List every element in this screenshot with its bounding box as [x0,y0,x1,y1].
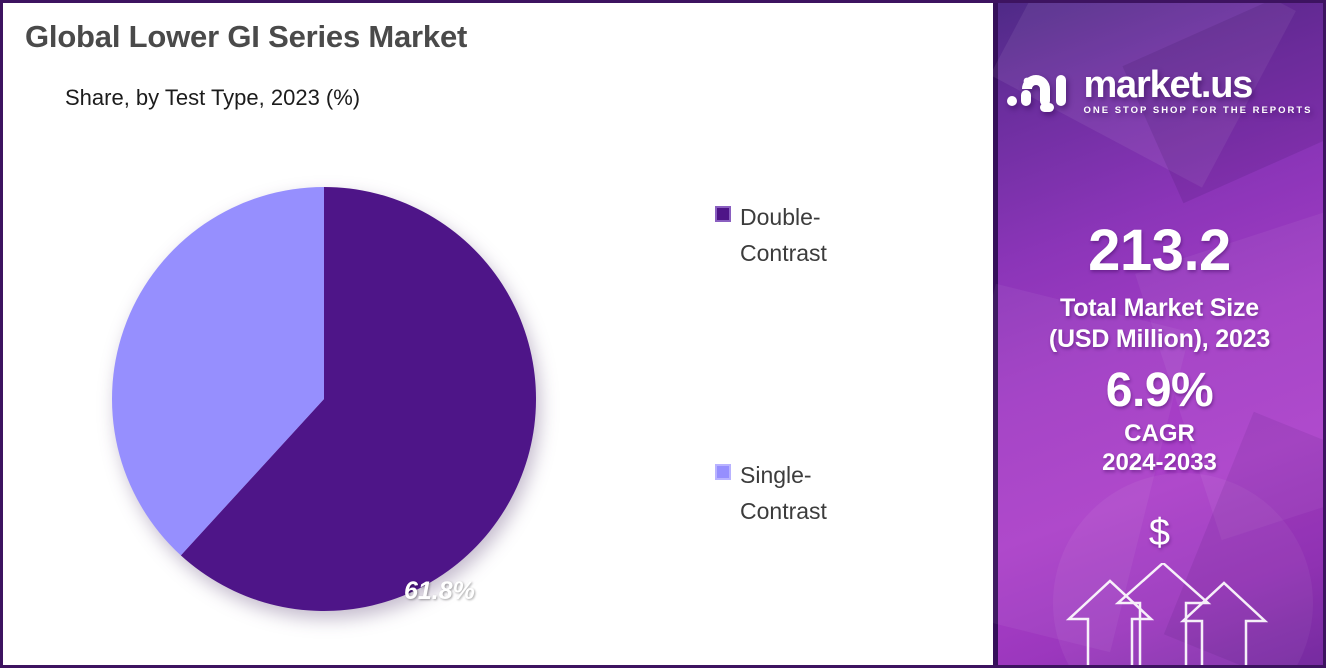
pie-slice-data-label: 61.8% [404,577,475,606]
legend-swatch-icon [715,464,731,480]
chart-legend: Double-Contrast Single-Contrast [715,199,965,668]
legend-item-label-line1: Double- [740,204,821,230]
brand-stats: 213.2 Total Market Size (USD Million), 2… [993,219,1326,477]
legend-item-double-contrast[interactable]: Double-Contrast [715,199,965,271]
growth-arrows-icon [993,563,1326,665]
chart-pane: Global Lower GI Series Market Share, by … [3,3,993,665]
total-market-size-value: 213.2 [993,219,1326,283]
page-subtitle: Share, by Test Type, 2023 (%) [65,85,360,111]
market-us-logo-icon [1006,65,1072,118]
cagr-period: 2024-2033 [993,448,1326,477]
total-market-size-label-line2: (USD Million), 2023 [993,324,1326,355]
total-market-size-label-line1: Total Market Size [993,293,1326,324]
pie-chart: 61.8% [112,187,536,611]
brand-pane: market.us ONE STOP SHOP FOR THE REPORTS … [993,3,1326,665]
cagr-label: CAGR [993,419,1326,448]
legend-item-label-line2: Contrast [740,498,827,524]
legend-item-label-line2: Contrast [740,240,827,266]
brand-wordmark: market.us [1083,66,1312,104]
brand-tagline: ONE STOP SHOP FOR THE REPORTS [1083,104,1312,118]
dollar-sign-icon: $ [993,513,1326,553]
brand-logo-text: market.us ONE STOP SHOP FOR THE REPORTS [1083,66,1312,118]
cagr-value: 6.9% [993,363,1326,419]
legend-item-label: Double-Contrast [740,199,827,271]
infographic-root: Global Lower GI Series Market Share, by … [0,0,1326,668]
legend-item-label: Single-Contrast [740,457,827,529]
page-title: Global Lower GI Series Market [25,19,467,55]
legend-swatch-icon [715,206,731,222]
legend-item-single-contrast[interactable]: Single-Contrast [715,457,965,529]
brand-logo[interactable]: market.us ONE STOP SHOP FOR THE REPORTS [993,65,1326,118]
legend-item-label-line1: Single- [740,462,812,488]
pie-svg [112,187,536,611]
